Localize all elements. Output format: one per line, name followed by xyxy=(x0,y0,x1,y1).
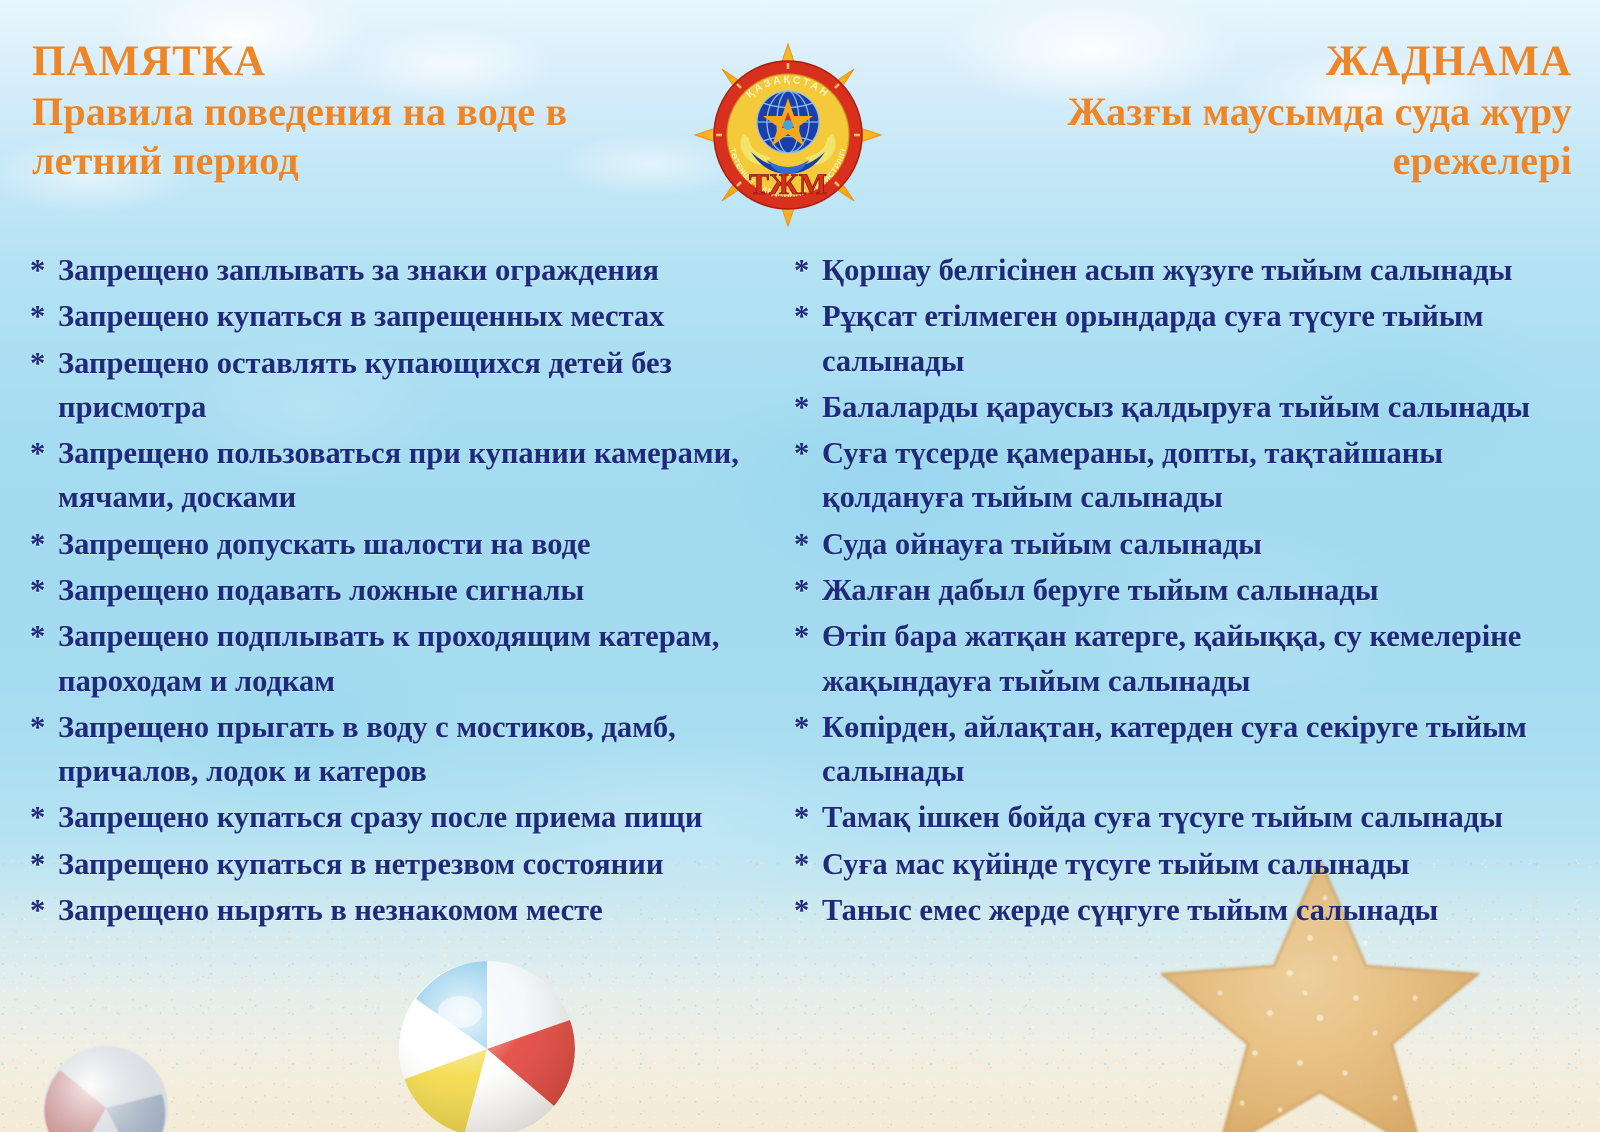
bullet-asterisk-icon: * xyxy=(794,842,809,886)
bullet-asterisk-icon: * xyxy=(794,568,809,612)
bullet-asterisk-icon: * xyxy=(30,248,45,292)
emblem-abbreviation: ТЖМ xyxy=(749,168,827,201)
rule-item-kk: *Суға мас күйінде түсуге тыйым салынады xyxy=(786,842,1586,886)
bullet-asterisk-icon: * xyxy=(30,888,45,932)
rule-item-label: Жалған дабыл беруге тыйым салынады xyxy=(822,573,1379,607)
beach-ball-decor xyxy=(392,954,582,1132)
rule-item-ru: *Запрещено прыгать в воду с мостиков, да… xyxy=(26,705,798,794)
rule-item-label: Запрещено купаться в запрещенных местах xyxy=(58,299,664,333)
rule-item-kk: *Балаларды қараусыз қалдыруға тыйым салы… xyxy=(786,385,1586,429)
rule-item-ru: *Запрещено нырять в незнакомом месте xyxy=(26,888,798,932)
rules-list-russian: *Запрещено заплывать за знаки ограждения… xyxy=(26,248,798,934)
rule-item-label: Рұқсат етілмеген орындарда суға түсуге т… xyxy=(822,299,1483,377)
header-left: ПАМЯТКА Правила поведения на воде в летн… xyxy=(32,36,672,186)
rule-item-label: Запрещено прыгать в воду с мостиков, дам… xyxy=(58,710,676,788)
rule-item-ru: *Запрещено пользоваться при купании каме… xyxy=(26,431,798,520)
bullet-asterisk-icon: * xyxy=(794,248,809,292)
header-right-kicker: ЖАДНАМА xyxy=(912,36,1572,88)
rule-item-label: Тамақ ішкен бойда суға түсуге тыйым салы… xyxy=(822,800,1503,834)
rule-item-label: Таныс емес жерде сүңгуге тыйым салынады xyxy=(822,893,1438,927)
rule-item-ru: *Запрещено купаться в нетрезвом состояни… xyxy=(26,842,798,886)
bullet-asterisk-icon: * xyxy=(30,341,45,385)
rule-item-ru: *Запрещено заплывать за знаки ограждения xyxy=(26,248,798,292)
rule-item-kk: *Жалған дабыл беруге тыйым салынады xyxy=(786,568,1586,612)
bullet-asterisk-icon: * xyxy=(794,614,809,658)
bullet-asterisk-icon: * xyxy=(794,294,809,338)
kazakhstan-emergency-ministry-emblem-icon: ҚАЗАҚСТАН ТӨТЕНШЕ ЖАҒДАЙЛАР МИНИСТРЛІГІ xyxy=(693,42,883,228)
rule-item-label: Балаларды қараусыз қалдыруға тыйым салын… xyxy=(822,390,1530,424)
bullet-asterisk-icon: * xyxy=(30,614,45,658)
rule-item-kk: *Көпірден, айлақтан, катерден суға секір… xyxy=(786,705,1586,794)
rule-item-kk: *Таныс емес жерде сүңгуге тыйым салынады xyxy=(786,888,1586,932)
rule-item-label: Запрещено допускать шалости на воде xyxy=(58,527,591,561)
rule-item-ru: *Запрещено купаться сразу после приема п… xyxy=(26,795,798,839)
rules-list-kazakh: *Қоршау белгісінен асып жүзуге тыйым сал… xyxy=(786,248,1586,934)
rule-item-ru: *Запрещено подплывать к проходящим катер… xyxy=(26,614,798,703)
bullet-asterisk-icon: * xyxy=(30,705,45,749)
bullet-asterisk-icon: * xyxy=(794,888,809,932)
rule-item-kk: *Тамақ ішкен бойда суға түсуге тыйым сал… xyxy=(786,795,1586,839)
rule-item-ru: *Запрещено оставлять купающихся детей бе… xyxy=(26,341,798,430)
rule-item-label: Запрещено нырять в незнакомом месте xyxy=(58,893,603,927)
rule-item-kk: *Суға түсерде қамераны, допты, тақтайшан… xyxy=(786,431,1586,520)
rule-item-label: Запрещено подплывать к проходящим катера… xyxy=(58,619,719,697)
rule-item-label: Қоршау белгісінен асып жүзуге тыйым салы… xyxy=(822,253,1512,287)
bullet-asterisk-icon: * xyxy=(794,431,809,475)
rule-item-label: Көпірден, айлақтан, катерден суға секіру… xyxy=(822,710,1527,788)
rule-item-kk: *Рұқсат етілмеген орындарда суға түсуге … xyxy=(786,294,1586,383)
rule-item-label: Запрещено пользоваться при купании камер… xyxy=(58,436,739,514)
rule-item-kk: *Суда ойнауға тыйым салынады xyxy=(786,522,1586,566)
header-left-kicker: ПАМЯТКА xyxy=(32,36,672,88)
bullet-asterisk-icon: * xyxy=(794,522,809,566)
poster-canvas: ПАМЯТКА Правила поведения на воде в летн… xyxy=(0,0,1600,1132)
rule-item-label: Запрещено купаться в нетрезвом состоянии xyxy=(58,847,663,881)
bullet-asterisk-icon: * xyxy=(794,385,809,429)
rule-item-kk: *Өтіп бара жатқан катерге, қайыққа, су к… xyxy=(786,614,1586,703)
beach-ball-small-decor xyxy=(40,1042,172,1132)
bullet-asterisk-icon: * xyxy=(30,795,45,839)
rule-item-ru: *Запрещено допускать шалости на воде xyxy=(26,522,798,566)
rule-item-ru: *Запрещено подавать ложные сигналы xyxy=(26,568,798,612)
bullet-asterisk-icon: * xyxy=(30,294,45,338)
bullet-asterisk-icon: * xyxy=(30,522,45,566)
rule-item-label: Суда ойнауға тыйым салынады xyxy=(822,527,1262,561)
header-right-title: Жазғы маусымда суда жүру ережелері xyxy=(1067,89,1572,183)
bullet-asterisk-icon: * xyxy=(30,568,45,612)
rule-item-label: Запрещено заплывать за знаки ограждения xyxy=(58,253,659,287)
bullet-asterisk-icon: * xyxy=(30,431,45,475)
bullet-asterisk-icon: * xyxy=(30,842,45,886)
bullet-asterisk-icon: * xyxy=(794,795,809,839)
rule-item-label: Запрещено купаться сразу после приема пи… xyxy=(58,800,702,834)
rule-item-label: Запрещено оставлять купающихся детей без… xyxy=(58,346,672,424)
rule-item-label: Суға мас күйінде түсуге тыйым салынады xyxy=(822,847,1409,881)
header-right: ЖАДНАМА Жазғы маусымда суда жүру ережеле… xyxy=(912,36,1572,186)
rule-item-kk: *Қоршау белгісінен асып жүзуге тыйым сал… xyxy=(786,248,1586,292)
rule-item-label: Суға түсерде қамераны, допты, тақтайшаны… xyxy=(822,436,1443,514)
rule-item-ru: *Запрещено купаться в запрещенных местах xyxy=(26,294,798,338)
rule-item-label: Запрещено подавать ложные сигналы xyxy=(58,573,584,607)
bullet-asterisk-icon: * xyxy=(794,705,809,749)
rule-item-label: Өтіп бара жатқан катерге, қайыққа, су ке… xyxy=(822,619,1521,697)
header-left-title: Правила поведения на воде в летний перио… xyxy=(32,89,567,183)
